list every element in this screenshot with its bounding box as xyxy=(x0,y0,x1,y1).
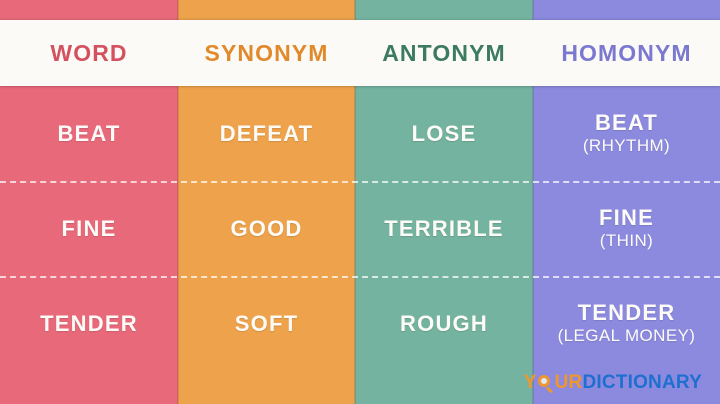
table-header-row: WORD SYNONYM ANTONYM HOMONYM xyxy=(0,20,720,86)
cell-main-text: GOOD xyxy=(230,217,302,240)
cell-word-2: TENDER xyxy=(0,276,178,371)
cell-main-text: TERRIBLE xyxy=(384,217,504,240)
row-divider-1 xyxy=(0,181,720,183)
cell-sub-text: (RHYTHM) xyxy=(583,136,670,156)
magnifying-glass-icon xyxy=(537,374,555,393)
cell-main-text: SOFT xyxy=(235,312,298,335)
table-row: TENDER SOFT ROUGH TENDER (LEGAL MONEY) xyxy=(0,276,720,371)
cell-main-text: TENDER xyxy=(40,312,138,335)
column-header-antonym: ANTONYM xyxy=(355,20,533,86)
logo-letters-ur: UR xyxy=(555,372,583,394)
magnifier-handle xyxy=(546,386,553,393)
column-header-homonym: HOMONYM xyxy=(533,20,720,86)
cell-main-text: LOSE xyxy=(412,122,477,145)
table-row: FINE GOOD TERRIBLE FINE (THIN) xyxy=(0,181,720,276)
cell-sub-text: (LEGAL MONEY) xyxy=(558,326,696,346)
logo-word-dictionary: DICTIONARY xyxy=(582,372,702,394)
cell-main-text: TENDER xyxy=(578,301,676,324)
logo-letter-y: Y xyxy=(524,372,537,394)
column-header-synonym: SYNONYM xyxy=(178,20,355,86)
table-row: BEAT DEFEAT LOSE BEAT (RHYTHM) xyxy=(0,86,720,181)
row-divider-2 xyxy=(0,276,720,278)
cell-main-text: DEFEAT xyxy=(220,122,314,145)
column-header-word: WORD xyxy=(0,20,178,86)
cell-antonym-2: ROUGH xyxy=(355,276,533,371)
cell-sub-text: (THIN) xyxy=(600,231,653,251)
table-body: BEAT DEFEAT LOSE BEAT (RHYTHM) FINE xyxy=(0,86,720,371)
cell-synonym-2: SOFT xyxy=(178,276,355,371)
cell-word-1: FINE xyxy=(0,181,178,276)
cell-antonym-1: TERRIBLE xyxy=(355,181,533,276)
infographic-table: WORD SYNONYM ANTONYM HOMONYM BEAT DEFEAT… xyxy=(0,0,720,404)
cell-main-text: BEAT xyxy=(595,111,658,134)
cell-synonym-0: DEFEAT xyxy=(178,86,355,181)
cell-antonym-0: LOSE xyxy=(355,86,533,181)
cell-main-text: ROUGH xyxy=(400,312,488,335)
cell-homonym-1: FINE (THIN) xyxy=(533,181,720,276)
cell-word-0: BEAT xyxy=(0,86,178,181)
magnifier-lens xyxy=(538,375,550,387)
cell-main-text: FINE xyxy=(599,206,654,229)
yourdictionary-logo: Y UR DICTIONARY xyxy=(524,372,702,394)
cell-main-text: BEAT xyxy=(57,122,120,145)
cell-synonym-1: GOOD xyxy=(178,181,355,276)
cell-homonym-2: TENDER (LEGAL MONEY) xyxy=(533,276,720,371)
cell-main-text: FINE xyxy=(62,217,117,240)
cell-homonym-0: BEAT (RHYTHM) xyxy=(533,86,720,181)
